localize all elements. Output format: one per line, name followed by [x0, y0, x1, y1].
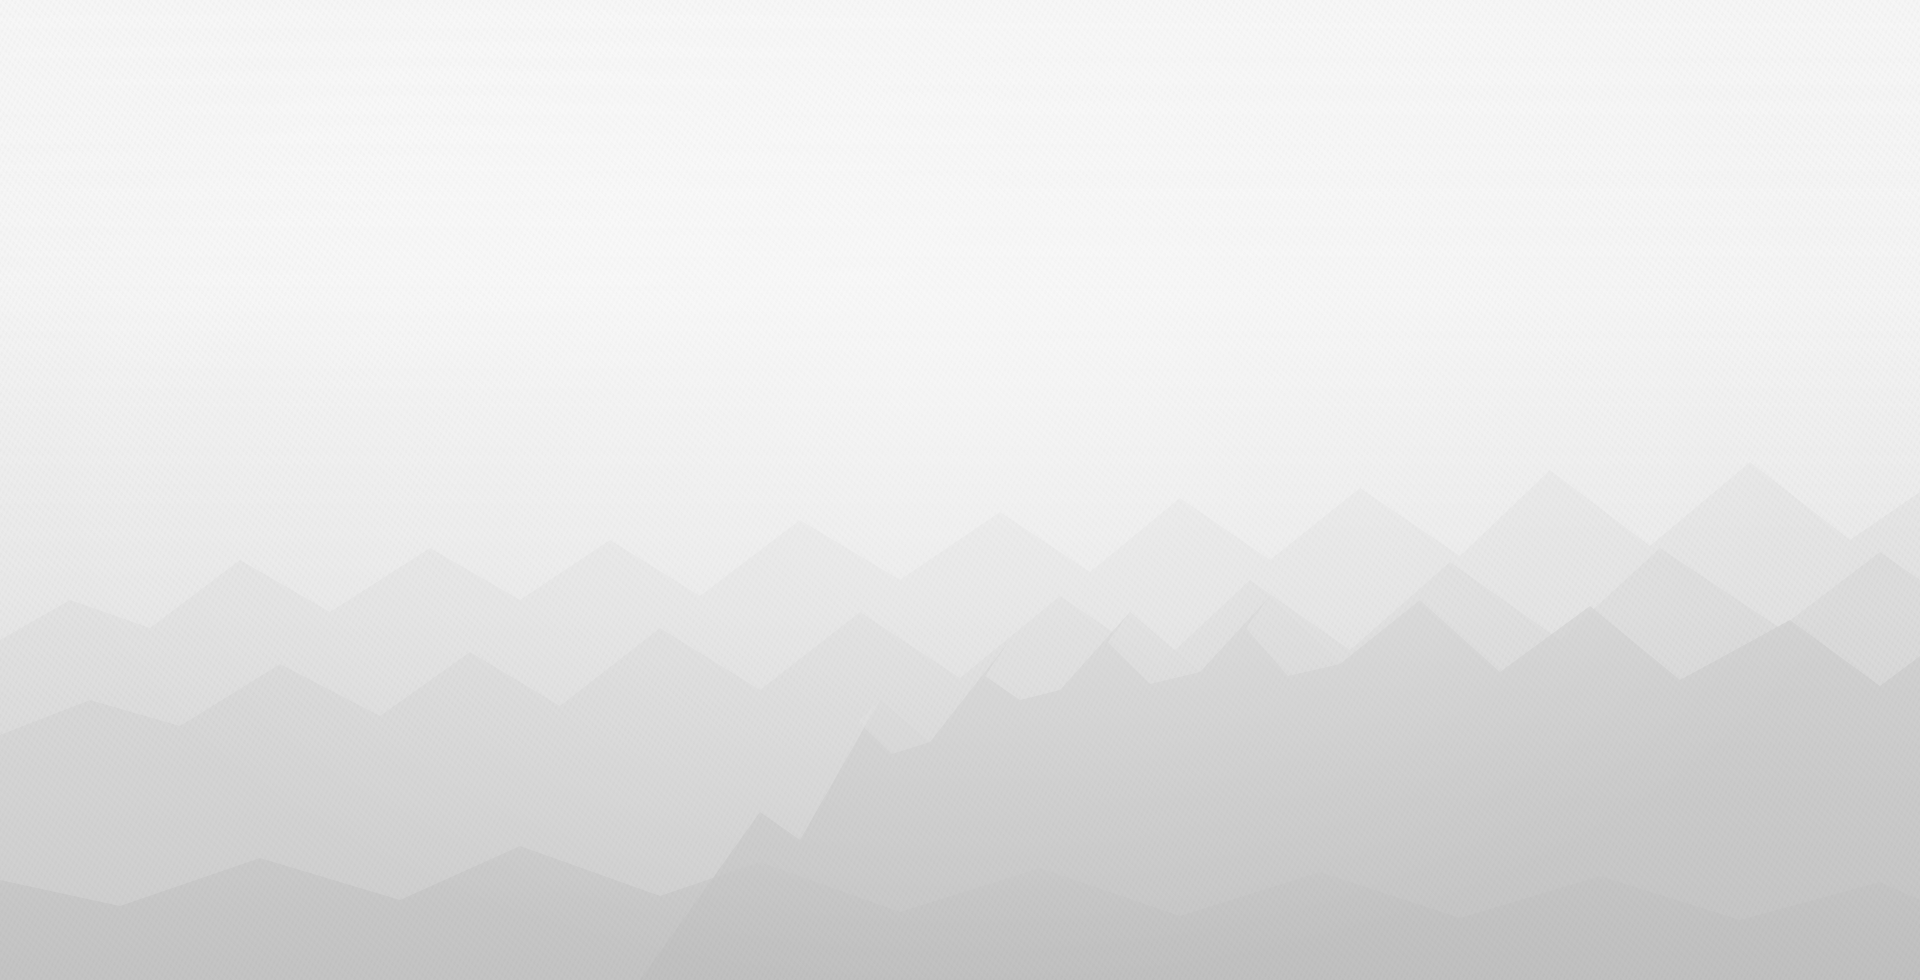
timeline-curve: [0, 0, 1920, 980]
timeline-infographic: [0, 0, 1920, 980]
page-title: [62, 62, 140, 74]
